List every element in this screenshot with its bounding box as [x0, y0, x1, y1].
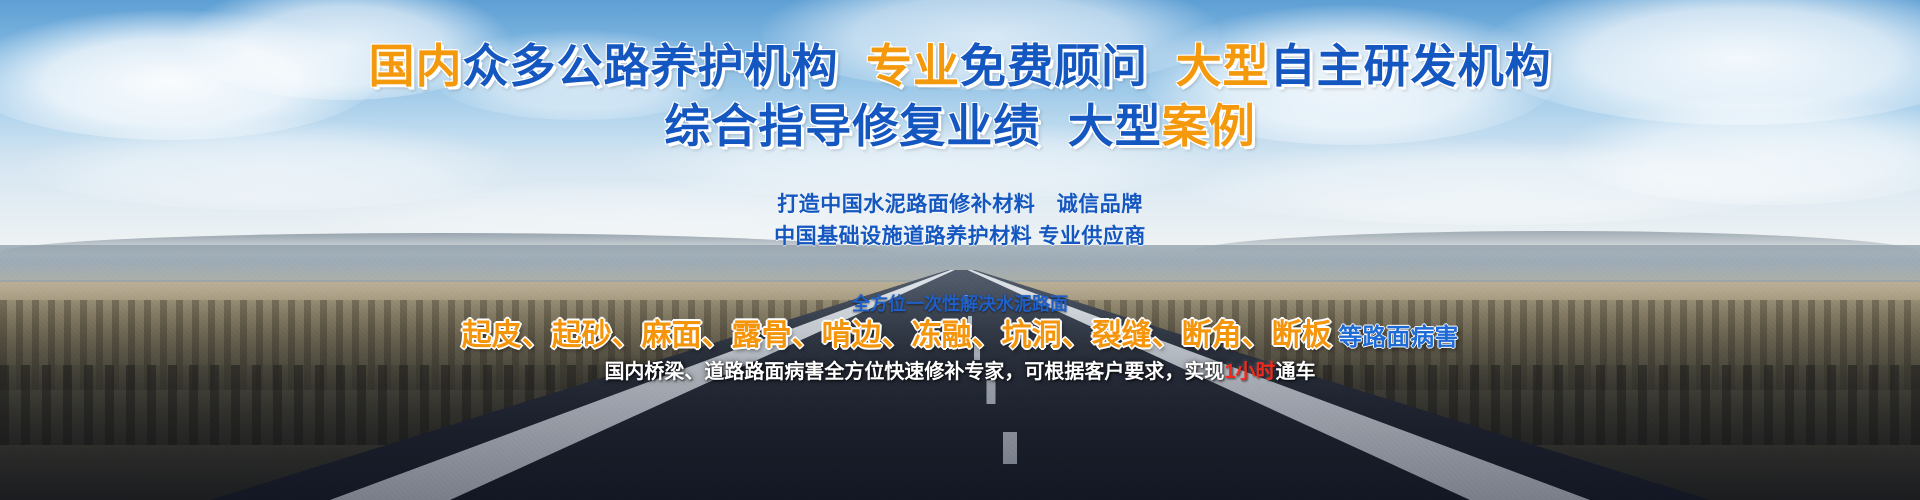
- claim-suffix-text: 通车: [1276, 361, 1316, 383]
- bottom-damage-line: 起皮、起砂、麻面、露骨、啃边、冻融、坑洞、裂缝、断角、断板 等路面病害: [0, 316, 1920, 358]
- headline-1-seg-2: 众多公路养护机构: [462, 40, 838, 92]
- headline-2-seg-3: 案例: [1162, 100, 1256, 152]
- headline-1-seg-6: 自主研发机构: [1270, 40, 1552, 92]
- headline-line-2: 综合指导修复业绩 大型案例: [0, 98, 1920, 154]
- promo-banner: 国内众多公路养护机构 专业免费顾问 大型自主研发机构 综合指导修复业绩 大型案例…: [0, 0, 1920, 500]
- subhead-line-1: 打造中国水泥路面修补材料 诚信品牌: [0, 190, 1920, 220]
- headline-1-seg-3: 专业: [866, 40, 960, 92]
- headline-2-gap-1: [1040, 100, 1068, 152]
- damage-tail-text: 等路面病害: [1332, 324, 1459, 351]
- subhead-line-2: 中国基础设施道路养护材料 专业供应商: [0, 222, 1920, 252]
- headline-1-gap-2: [1148, 40, 1176, 92]
- claim-highlight-text: 1小时: [1224, 361, 1275, 383]
- headline-1-seg-1: 国内: [368, 40, 462, 92]
- headline-line-1: 国内众多公路养护机构 专业免费顾问 大型自主研发机构: [0, 38, 1920, 94]
- banner-text-overlay: 国内众多公路养护机构 专业免费顾问 大型自主研发机构 综合指导修复业绩 大型案例…: [0, 0, 1920, 500]
- headline-1-seg-4: 免费顾问: [960, 40, 1148, 92]
- bottom-intro-text: 全方位一次性解决水泥路面: [0, 292, 1920, 316]
- claim-prefix-text: 国内桥梁、道路路面病害全方位快速修补专家，可根据客户要求，实现: [604, 361, 1224, 383]
- headline-2-seg-2: 大型: [1068, 100, 1162, 152]
- headline-1-gap-1: [838, 40, 866, 92]
- damage-list-text: 起皮、起砂、麻面、露骨、啃边、冻融、坑洞、裂缝、断角、断板: [462, 319, 1332, 352]
- bottom-claim-line: 国内桥梁、道路路面病害全方位快速修补专家，可根据客户要求，实现1小时通车: [0, 358, 1920, 386]
- headline-1-seg-5: 大型: [1176, 40, 1270, 92]
- headline-2-seg-1: 综合指导修复业绩: [664, 100, 1040, 152]
